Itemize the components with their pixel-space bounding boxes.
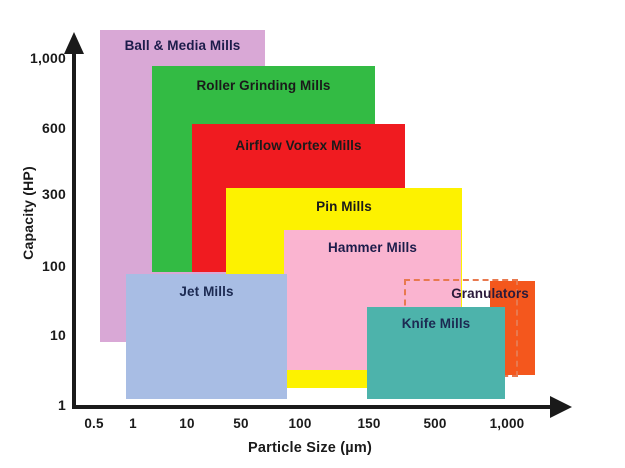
x-tick-150: 150 [357,416,380,431]
y-tick-300: 300 [0,186,66,202]
y-axis-arrow-icon [64,32,84,54]
y-tick-600: 600 [0,120,66,136]
region-label-airflow-vortex-mills: Airflow Vortex Mills [192,138,405,153]
x-tick-500: 500 [423,416,446,431]
x-tick-10: 10 [179,416,194,431]
y-tick-1: 1 [0,397,66,413]
y-tick-10: 10 [0,327,66,343]
region-label-hammer-mills: Hammer Mills [284,240,461,255]
equipment-selection-chart: Ball & Media Mills Roller Grinding Mills… [0,0,625,468]
y-tick-label: 600 [6,120,66,136]
x-tick-100: 100 [288,416,311,431]
y-tick-label: 300 [6,186,66,202]
x-axis-line [72,405,555,409]
x-axis-title: Particle Size (µm) [180,440,440,456]
region-knife-mills[interactable]: Knife Mills [367,307,505,399]
region-label-knife-mills: Knife Mills [367,316,505,331]
y-tick-100: 100 [0,258,66,274]
region-label-pin-mills: Pin Mills [226,199,462,214]
x-tick-50: 50 [233,416,248,431]
x-tick-1: 1 [129,416,137,431]
x-tick-1000: 1,000 [490,416,525,431]
y-tick-label: 1,000 [6,50,66,66]
y-tick-label: 100 [6,258,66,274]
y-axis-title: Capacity (HP) [20,123,36,303]
region-jet-mills[interactable]: Jet Mills [126,274,287,399]
x-tick-0.5: 0.5 [84,416,103,431]
region-label-jet-mills: Jet Mills [126,284,287,299]
region-label-ball-media-mills: Ball & Media Mills [100,38,265,53]
x-axis-arrow-icon [550,396,572,418]
region-label-roller-grinding-mills: Roller Grinding Mills [152,78,375,93]
y-tick-1000: 1,000 [0,50,66,66]
y-tick-label: 1 [6,397,66,413]
y-axis-line [72,52,76,409]
region-label-granulators: Granulators [430,286,550,301]
y-tick-label: 10 [6,327,66,343]
